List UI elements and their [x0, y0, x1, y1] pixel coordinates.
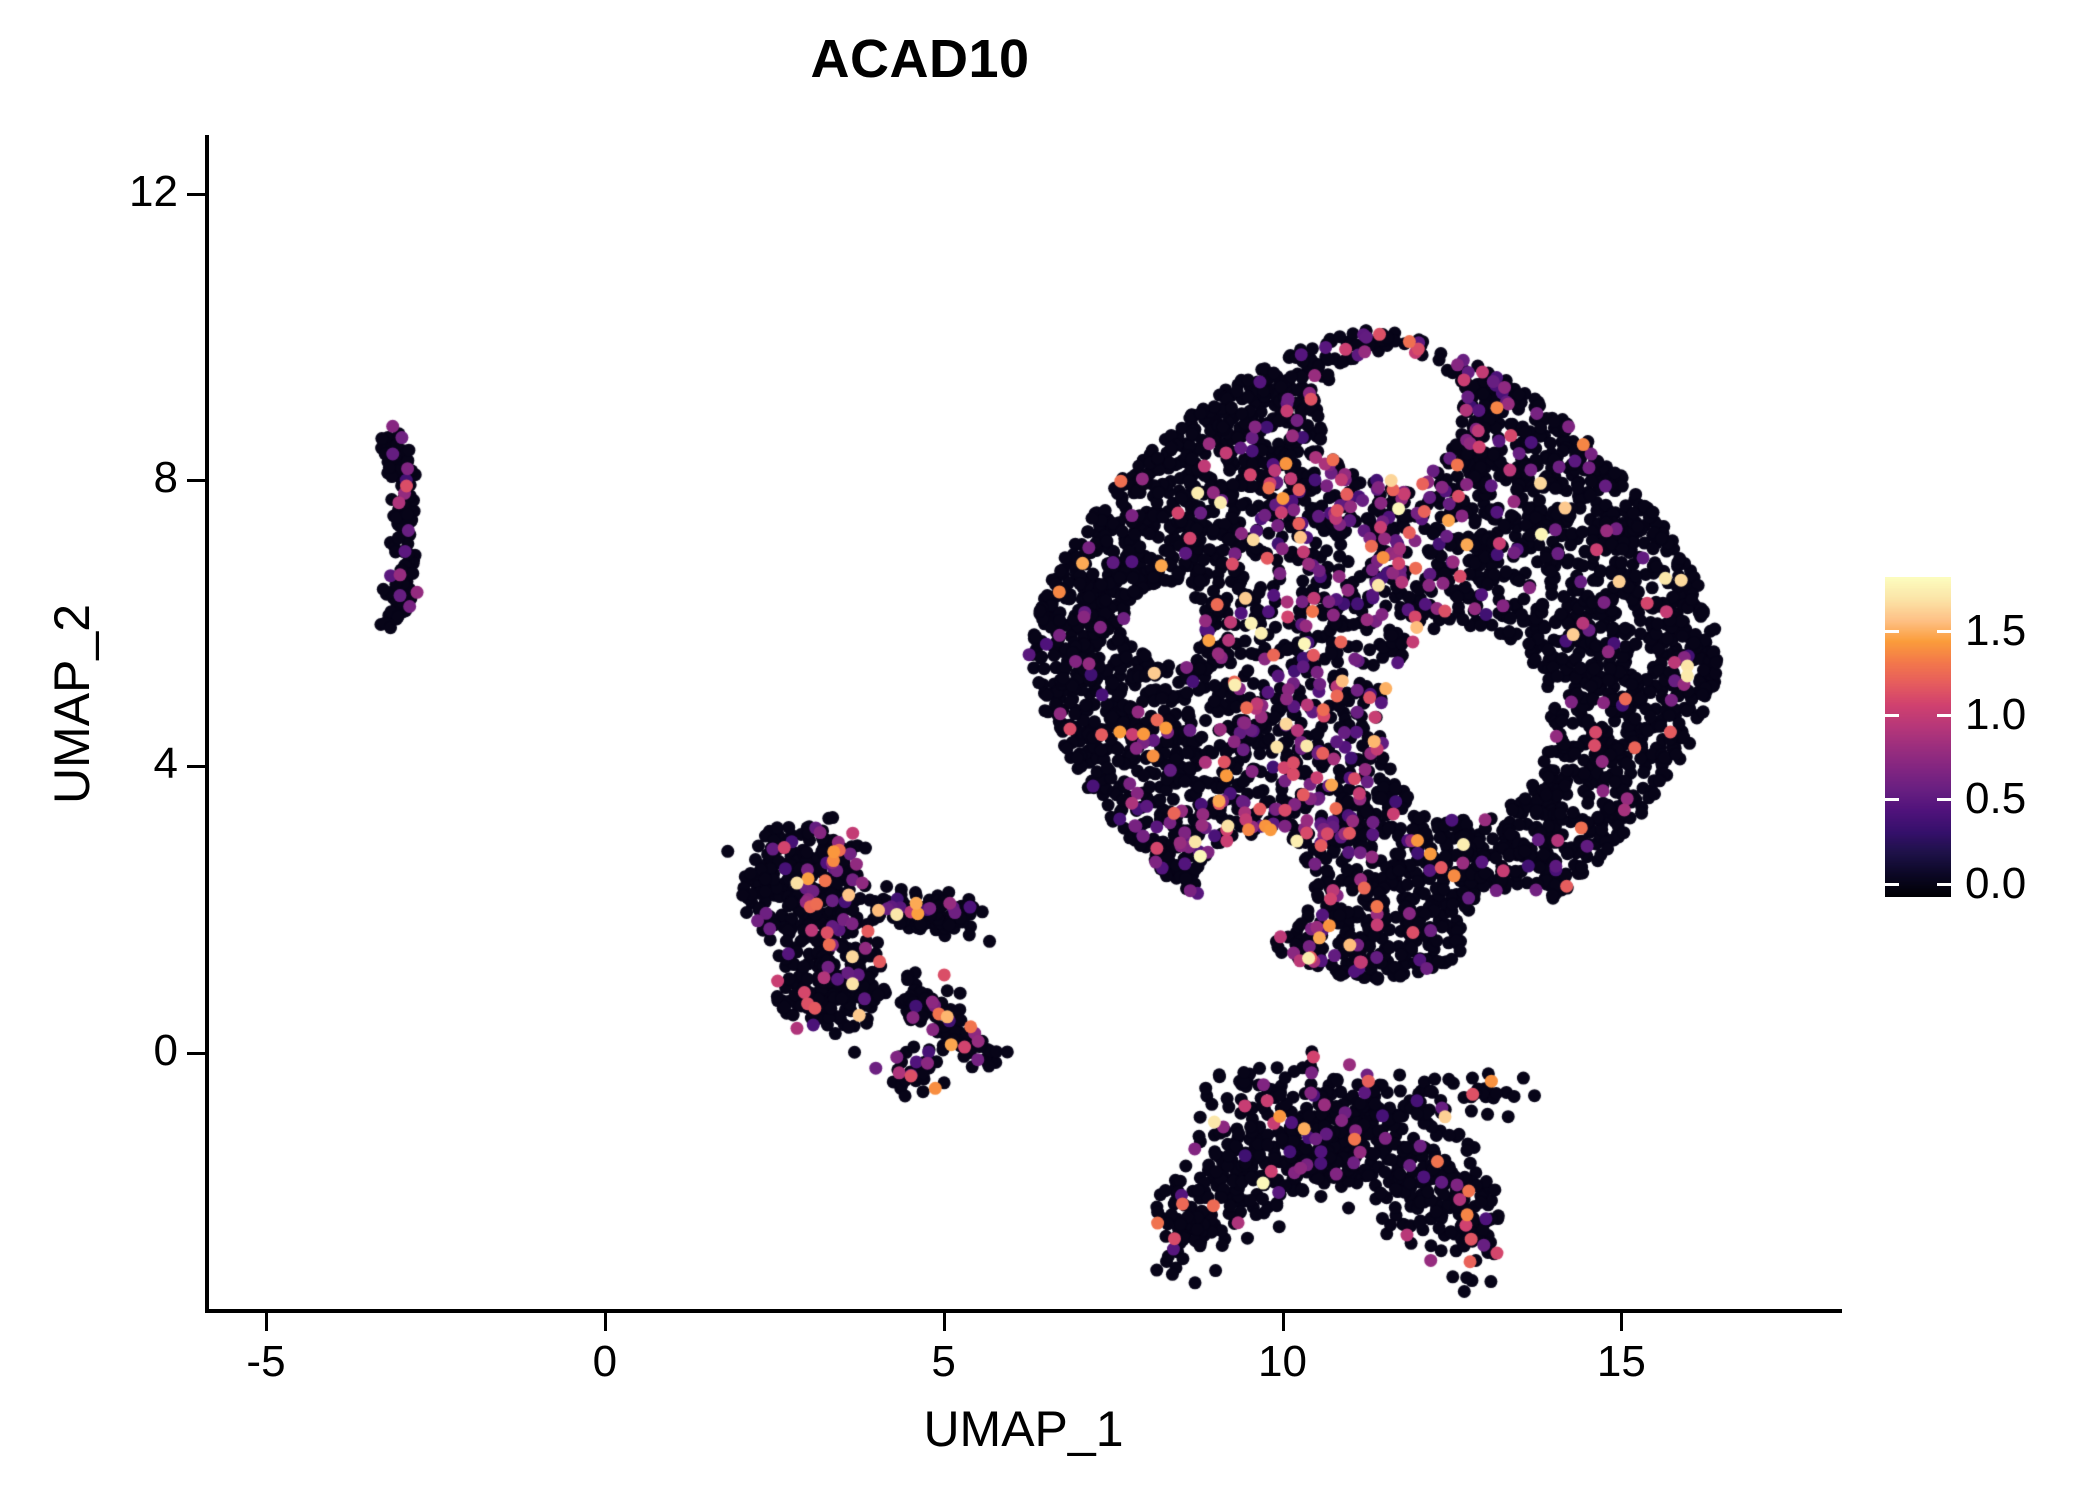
colorbar-tick-mark	[1937, 798, 1951, 801]
colorbar-tick-mark	[1937, 714, 1951, 717]
scatter-plot-canvas	[205, 130, 1845, 1310]
x-tick-mark	[1282, 1313, 1285, 1331]
colorbar-gradient	[1885, 577, 1951, 897]
colorbar-tick-label: 0.0	[1965, 859, 2026, 909]
x-axis-title: UMAP_1	[205, 1400, 1842, 1458]
x-axis-line	[205, 1309, 1842, 1313]
colorbar-tick-mark	[1885, 798, 1899, 801]
colorbar-tick-label: 1.0	[1965, 690, 2026, 740]
x-tick-mark	[265, 1313, 268, 1331]
y-tick-label: 12	[60, 167, 178, 217]
y-axis-title: UMAP_2	[43, 424, 101, 984]
colorbar-tick-mark	[1885, 630, 1899, 633]
x-tick-label: 5	[854, 1337, 1034, 1387]
x-tick-label: 15	[1531, 1337, 1711, 1387]
x-tick-mark	[604, 1313, 607, 1331]
y-axis-line	[205, 135, 209, 1313]
colorbar-tick-mark	[1937, 630, 1951, 633]
x-tick-label: 10	[1193, 1337, 1373, 1387]
x-tick-label: 0	[515, 1337, 695, 1387]
colorbar-tick-mark	[1885, 883, 1899, 886]
y-tick-mark	[187, 1052, 205, 1055]
y-tick-label: 0	[60, 1026, 178, 1076]
x-tick-label: -5	[176, 1337, 356, 1387]
colorbar-tick-label: 1.5	[1965, 606, 2026, 656]
x-tick-mark	[943, 1313, 946, 1331]
x-tick-mark	[1620, 1313, 1623, 1331]
feature-plot-figure: ACAD10 04812 -5051015 UMAP_2 UMAP_1 0.00…	[0, 0, 2100, 1500]
y-tick-mark	[187, 479, 205, 482]
y-tick-mark	[187, 193, 205, 196]
page-title: ACAD10	[0, 28, 1840, 90]
colorbar-tick-mark	[1937, 883, 1951, 886]
y-tick-mark	[187, 765, 205, 768]
colorbar-tick-mark	[1885, 714, 1899, 717]
colorbar-tick-label: 0.5	[1965, 774, 2026, 824]
colorbar-legend: 0.00.51.01.5	[1885, 577, 1951, 897]
